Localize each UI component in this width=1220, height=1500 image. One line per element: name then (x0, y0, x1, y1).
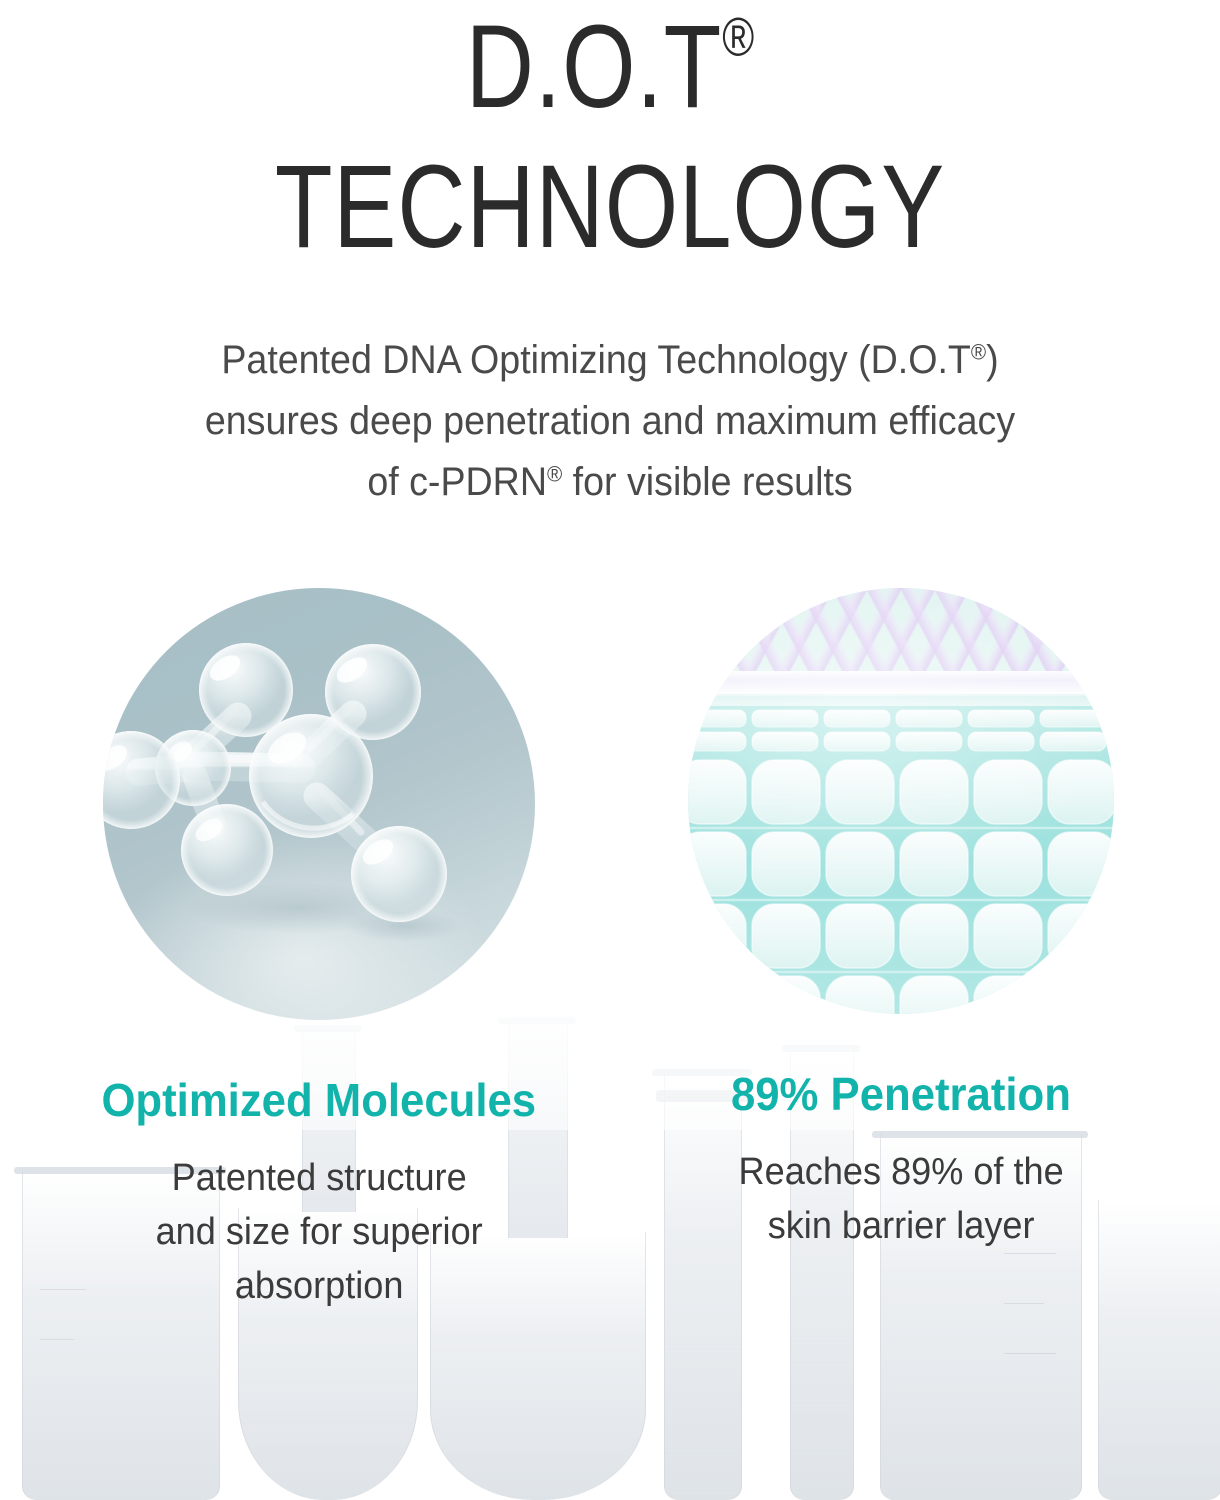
page-subtitle: Patented DNA Optimizing Technology (D.O.… (37, 266, 1184, 514)
registered-trademark-icon: ® (971, 339, 986, 364)
feature-optimized-molecules: Optimized Molecules Patented structure a… (39, 588, 599, 1314)
subtitle-line1-post: ) (986, 338, 999, 382)
feature-body-line: and size for superior (155, 1211, 482, 1253)
subtitle-line3-pre: of c-PDRN (367, 460, 547, 504)
title-block: D.O.T® TECHNOLOGY (0, 0, 1220, 266)
page-content: D.O.T® TECHNOLOGY Patented DNA Optimizin… (0, 0, 1220, 1314)
feature-row: Optimized Molecules Patented structure a… (0, 514, 1220, 1314)
feature-body-line: absorption (235, 1265, 404, 1307)
molecule-graphic (103, 588, 535, 1020)
registered-trademark-icon: ® (547, 462, 562, 487)
page-title-line2: TECHNOLOGY (122, 126, 1098, 266)
molecule-illustration (103, 588, 535, 1020)
page-title-line1: D.O.T® (122, 2, 1098, 126)
feature-penetration: 89% Penetration Reaches 89% of the skin … (621, 588, 1181, 1254)
glass-tick (1004, 1353, 1056, 1354)
subtitle-line2: ensures deep penetration and maximum eff… (205, 399, 1015, 443)
skin-cell-lattice (688, 588, 1114, 1014)
page-title-text: D.O.T (466, 1, 722, 133)
feature-body-penetration: Reaches 89% of the skin barrier layer (738, 1118, 1063, 1254)
subtitle-line1-pre: Patented DNA Optimizing Technology (D.O.… (221, 338, 971, 382)
feature-heading-penetration: 89% Penetration (731, 1014, 1071, 1118)
feature-body-line: Reaches 89% of the (738, 1151, 1063, 1193)
glass-tick (40, 1339, 74, 1340)
feature-body-molecules: Patented structure and size for superior… (155, 1124, 482, 1314)
feature-body-line: skin barrier layer (768, 1205, 1035, 1247)
feature-body-line: Patented structure (171, 1157, 466, 1199)
subtitle-line3-post: for visible results (562, 460, 852, 504)
registered-trademark-icon: ® (722, 6, 754, 67)
skin-barrier-illustration (688, 588, 1114, 1014)
feature-heading-molecules: Optimized Molecules (102, 1020, 537, 1124)
